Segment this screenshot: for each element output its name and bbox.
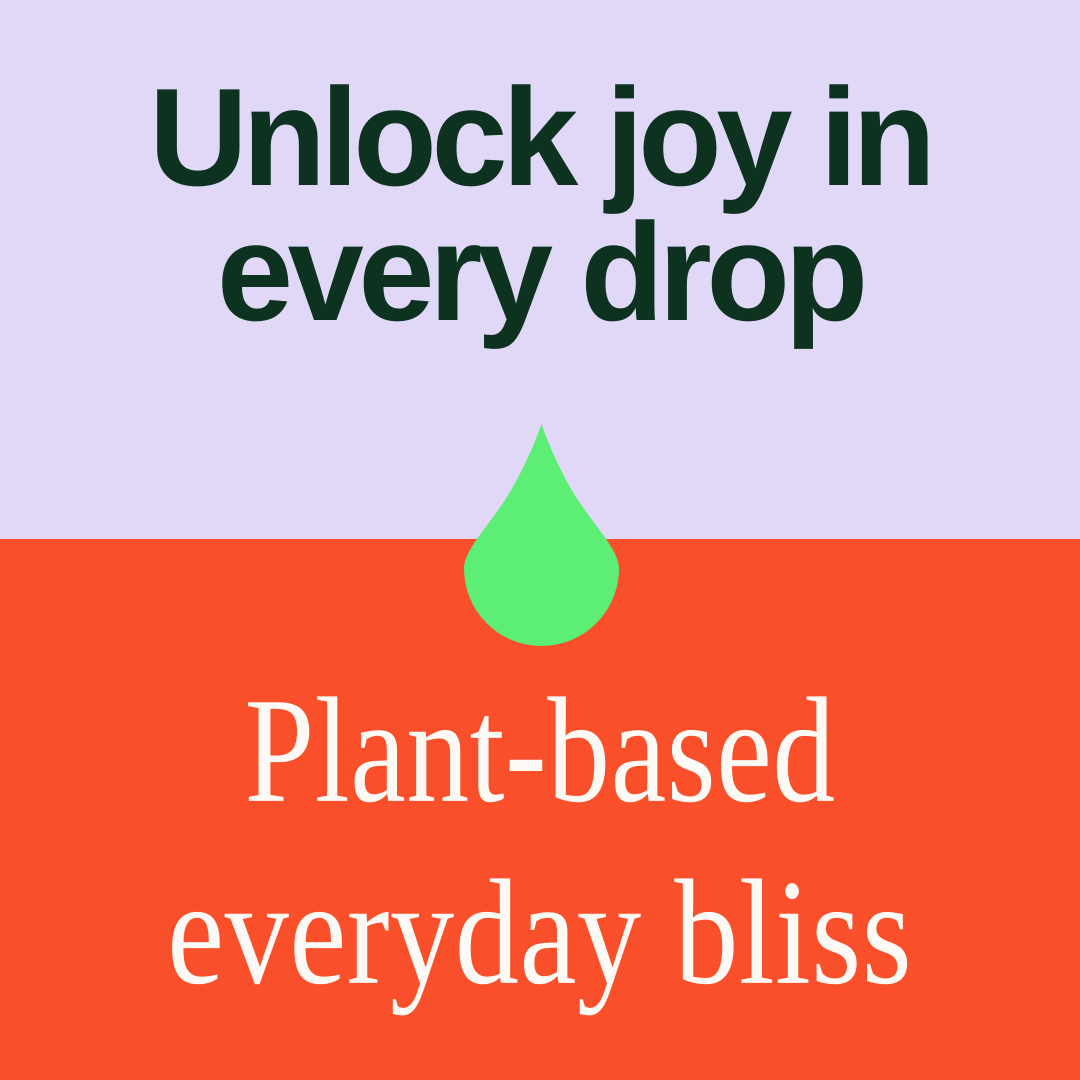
bottom-color-panel — [0, 539, 1080, 1080]
top-color-panel — [0, 0, 1080, 539]
promo-poster: Unlock joy in every drop Plant-based eve… — [0, 0, 1080, 1080]
